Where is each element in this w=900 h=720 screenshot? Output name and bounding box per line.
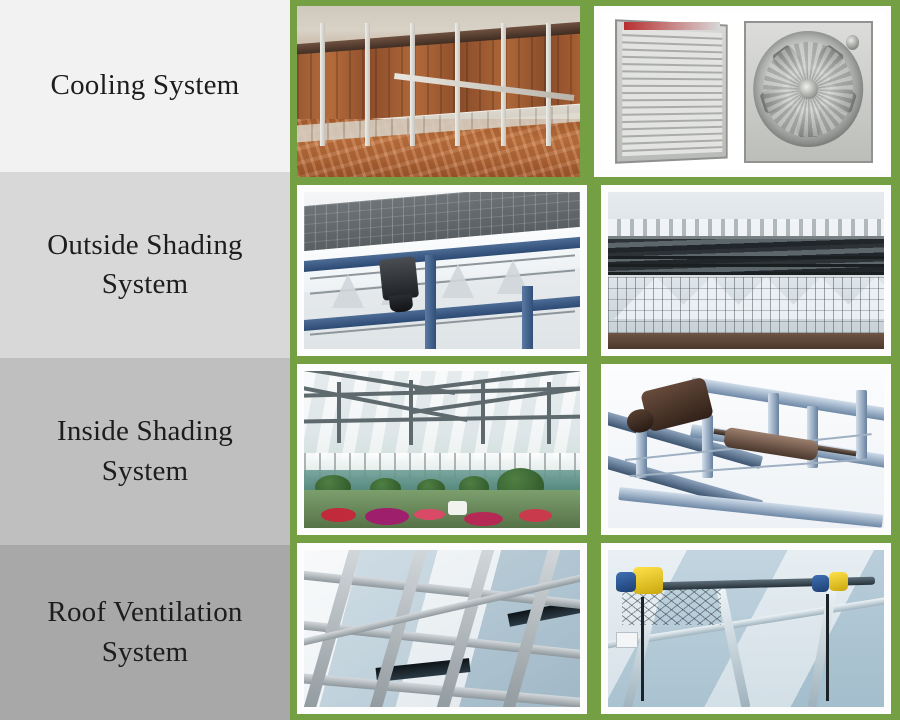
image-row-inside-shading xyxy=(297,364,891,535)
cooling-pad-wall-photo xyxy=(297,6,580,177)
system-label-cell-outside-shading: Outside Shading System xyxy=(0,172,290,358)
inside-shading-drive-render xyxy=(601,364,891,535)
exhaust-fan-photo xyxy=(594,6,891,177)
roof-vent-motor-photo xyxy=(601,543,891,714)
image-row-roof-ventilation xyxy=(297,543,891,714)
greenhouse-exterior-roofs-photo xyxy=(601,185,891,356)
system-label-outside-shading: Outside Shading System xyxy=(18,226,272,304)
image-row-cooling xyxy=(297,6,891,177)
system-label-inside-shading: Inside Shading System xyxy=(18,412,272,490)
system-label-cell-cooling: Cooling System xyxy=(0,0,290,172)
system-label-column: Cooling System Outside Shading System In… xyxy=(0,0,290,720)
outside-shading-rig-photo xyxy=(297,185,587,356)
greenhouse-interior-photo xyxy=(297,364,587,535)
image-row-outside-shading xyxy=(297,185,891,356)
roof-vent-frame-photo xyxy=(297,543,587,714)
system-label-roof-ventilation: Roof Ventilation System xyxy=(18,593,272,671)
greenhouse-systems-board: Cooling System Outside Shading System In… xyxy=(0,0,900,720)
system-label-cooling: Cooling System xyxy=(51,66,240,105)
system-image-grid xyxy=(290,0,900,720)
system-label-cell-roof-ventilation: Roof Ventilation System xyxy=(0,545,290,720)
system-label-cell-inside-shading: Inside Shading System xyxy=(0,358,290,545)
